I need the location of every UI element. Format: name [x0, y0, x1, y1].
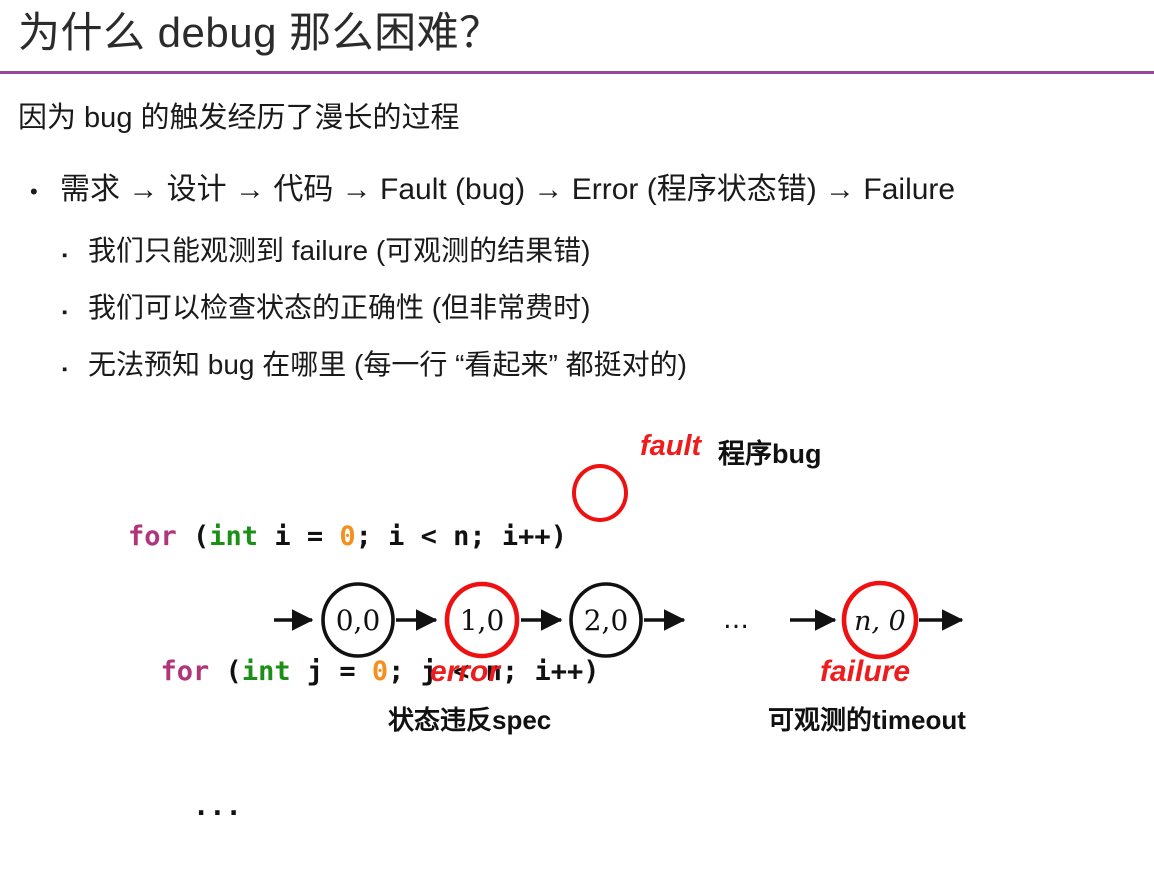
bullet-level2-0: ▪ 我们只能观测到 failure (可观测的结果错) — [62, 230, 590, 277]
bug-highlight-ellipse — [572, 464, 628, 522]
error-annotation-cn: 状态违反spec — [388, 700, 551, 737]
code-punct: ( — [209, 656, 242, 687]
bullet-level2-label: 无法预知 bug 在哪里 (每一行 “看起来” 都挺对的) — [88, 344, 687, 386]
code-text: ; i < n; i++) — [356, 521, 567, 552]
bullet-square-icon: ▪ — [62, 349, 88, 391]
error-annotation: error — [430, 655, 500, 689]
code-indent — [128, 656, 161, 687]
bullet-level2-label: 我们只能观测到 failure (可观测的结果错) — [88, 230, 590, 272]
code-keyword-for: for — [161, 656, 210, 687]
title-divider — [0, 71, 1154, 74]
code-line-1: for (int i = 0; i < n; i++) — [128, 514, 599, 559]
code-text: i = — [258, 521, 339, 552]
state-diagram-svg: 0,0 1,0 2,0 … n, 0 — [260, 576, 1000, 666]
code-number-zero: 0 — [339, 521, 355, 552]
state-diagram: 0,0 1,0 2,0 … n, 0 — [260, 576, 1000, 666]
code-type-int: int — [209, 521, 258, 552]
bullet-level2-1: ▪ 我们可以检查状态的正确性 (但非常费时) — [62, 287, 590, 334]
failure-annotation-cn: 可观测的timeout — [768, 700, 966, 737]
bullet-level1: • 需求 → 设计 → 代码 → Fault (bug) → Error (程序… — [30, 168, 955, 214]
page-title: 为什么 debug 那么困难？ — [18, 2, 502, 64]
code-line-3: ... — [128, 784, 599, 829]
bullet-level2-label: 我们可以检查状态的正确性 (但非常费时) — [88, 287, 590, 329]
state-node-n-label: n, 0 — [854, 606, 906, 637]
failure-annotation: failure — [820, 655, 910, 689]
lead-paragraph: 因为 bug 的触发经历了漫长的过程 — [18, 97, 460, 139]
fault-annotation-cn: 程序bug — [718, 432, 821, 471]
bullet-square-icon: ▪ — [62, 292, 88, 334]
state-node-2-label: 2,0 — [584, 604, 629, 637]
diagram-ellipsis: … — [723, 605, 749, 635]
bullet-level1-label: 需求 → 设计 → 代码 → Fault (bug) → Error (程序状态… — [60, 168, 955, 212]
fault-annotation: fault — [640, 430, 701, 463]
bullet-level2-2: ▪ 无法预知 bug 在哪里 (每一行 “看起来” 都挺对的) — [62, 344, 687, 391]
state-node-1-label: 1,0 — [460, 604, 505, 637]
code-punct: ( — [177, 521, 210, 552]
code-keyword-for: for — [128, 521, 177, 552]
state-node-0-label: 0,0 — [336, 604, 381, 637]
bullet-dot-icon: • — [30, 170, 60, 214]
bullet-square-icon: ▪ — [62, 235, 88, 277]
